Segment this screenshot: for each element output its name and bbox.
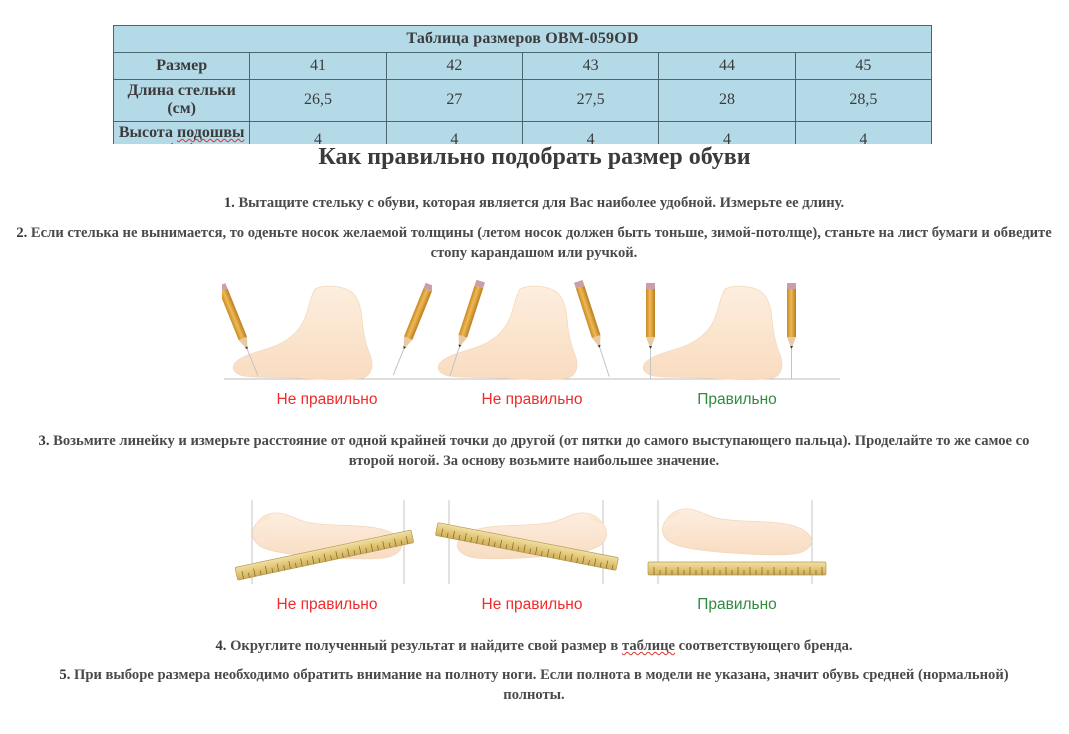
cell-insole-41: 26,5 [250,80,386,122]
pencil-caption-2: Не правильно [427,391,637,409]
foot-side-view-with-tilted-pencils-icon [222,275,432,393]
foot-side-view-with-vertical-pencils-icon [632,275,842,393]
pencil-right-icon [574,280,613,378]
instruction-3: 3. Возьмите линейку и измерьте расстояни… [14,432,1054,471]
instruction-5: 5. При выборе размера необходимо обратит… [44,666,1024,705]
instruction-4: 4. Округлите полученный результат и найд… [134,637,934,657]
cell-sole-43: 4 [522,121,658,144]
foot-top-view-with-tilted-ruler-icon [222,498,432,598]
pencil-figures-row: Не правильно Не правильно [0,275,1069,410]
ruler-caption-2: Не правильно [427,596,637,614]
ruler-icon [648,562,826,575]
pencil-caption-3: Правильно [632,391,842,409]
cell-insole-45: 28,5 [795,80,931,122]
foot-top-view-with-horizontal-ruler-icon [632,498,842,598]
cell-size-44: 44 [659,53,795,80]
cell-insole-42: 27 [386,80,522,122]
instruction-5-text: При выборе размера необходимо обратить в… [74,667,1009,703]
row-label-sole-height: Высота подошвы (см) [114,121,250,144]
ruler-panel-right: Правильно [632,498,842,618]
instruction-2-text: Если стелька не вынимается, то оденьте н… [31,225,1052,261]
cell-size-45: 45 [795,53,931,80]
instruction-2-number: 2. [16,225,27,241]
misspelled-word: подошвы [177,124,245,141]
pencil-right-icon [787,283,796,379]
ruler-caption-1: Не правильно [222,596,432,614]
ruler-caption-3: Правильно [632,596,842,614]
pencil-right-icon [389,283,432,377]
cell-insole-44: 28 [659,80,795,122]
ruler-panel-wrong-1: Не правильно [222,498,432,618]
size-table-title: Таблица размеров ОВМ-059OD [114,26,932,53]
cell-sole-44: 4 [659,121,795,144]
pencil-caption-1: Не правильно [222,391,432,409]
ruler-panel-wrong-2: Не правильно [427,498,637,618]
foot-side-view-with-inward-pencils-icon [427,275,637,393]
row-label-sole-height-text: Высота [119,124,177,141]
cell-size-42: 42 [386,53,522,80]
cell-insole-43: 27,5 [522,80,658,122]
cell-sole-42: 4 [386,121,522,144]
page-title: Как правильно подобрать размер обуви [0,144,1069,171]
table-row: Высота подошвы (см) 4 4 4 4 4 [114,121,932,144]
pencil-panel-right: Правильно [632,275,842,395]
pencil-panel-wrong-1: Не правильно [222,275,432,395]
pencil-panel-wrong-2: Не правильно [427,275,637,395]
instruction-2: 2. Если стелька не вынимается, то оденьт… [14,224,1054,263]
table-row: Размер 41 42 43 44 45 [114,53,932,80]
cell-sole-41: 4 [250,121,386,144]
instruction-4-text-after: соответствующего бренда. [675,638,853,654]
cell-size-41: 41 [250,53,386,80]
ruler-figures-row: Не правильно [0,498,1069,628]
cell-size-43: 43 [522,53,658,80]
instruction-3-number: 3. [39,433,50,449]
instruction-3-text: Возьмите линейку и измерьте расстояние о… [53,433,1029,469]
instruction-5-number: 5. [59,667,70,683]
table-row: Длина стельки (см) 26,5 27 27,5 28 28,5 [114,80,932,122]
size-table-container: Таблица размеров ОВМ-059OD Размер 41 42 … [113,25,932,144]
row-label-size: Размер [114,53,250,80]
instruction-1-number: 1. [224,195,235,211]
cell-sole-45: 4 [795,121,931,144]
table-title-row: Таблица размеров ОВМ-059OD [114,26,932,53]
instruction-1: 1. Вытащите стельку с обуви, которая явл… [134,194,934,214]
size-table: Таблица размеров ОВМ-059OD Размер 41 42 … [113,25,932,144]
row-label-insole-length: Длина стельки (см) [114,80,250,122]
instruction-4-number: 4. [215,638,226,654]
foot-top-view-mirrored-with-tilted-ruler-icon [427,498,637,598]
instruction-4-text-before: Округлите полученный результат и найдите… [230,638,622,654]
instruction-1-text: Вытащите стельку с обуви, которая являет… [238,195,844,211]
misspelled-word: таблице [622,638,675,654]
